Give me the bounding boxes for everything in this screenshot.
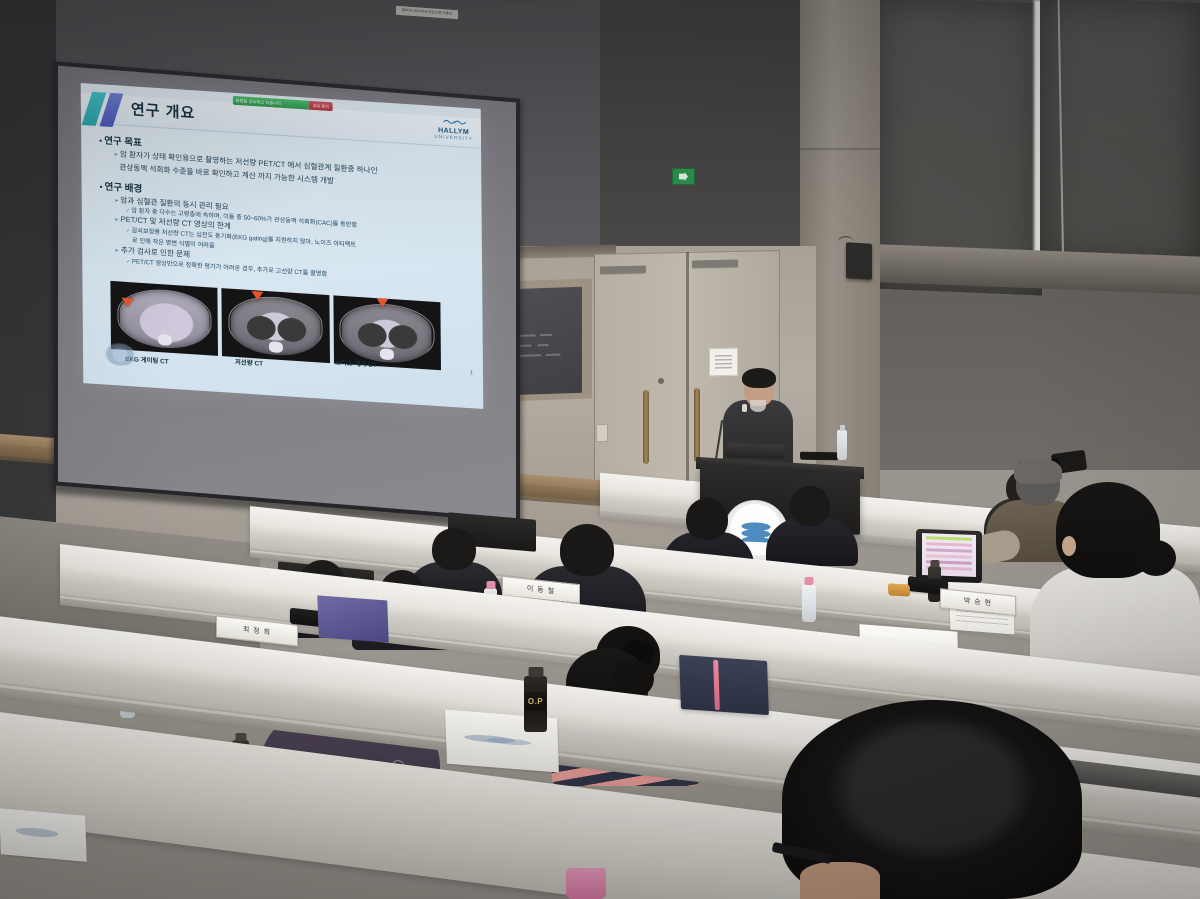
- slide-body: 연구 목표 암 환자가 상태 확인용으로 촬영하는 저선량 PET/CT 에서 …: [95, 132, 474, 289]
- ct-caption: 저선량 CT: [235, 357, 263, 368]
- pink-cup: [566, 868, 606, 899]
- audience-head: [432, 528, 476, 570]
- door-lock-icon[interactable]: [658, 378, 664, 384]
- door-notice-sign: [709, 348, 738, 377]
- laptop-screen[interactable]: [317, 595, 388, 642]
- annotation-arrow-icon: [252, 291, 264, 301]
- notebook[interactable]: [679, 655, 769, 715]
- lecture-hall-photo: 연구 개요 〜〜 HALLYM UNIVERSITY 화면을 공유하고 있습니다…: [0, 0, 1200, 899]
- bottle-cap: [805, 577, 814, 585]
- snack: [888, 583, 911, 596]
- bottle-cap: [486, 581, 495, 589]
- bottle-label: O.P: [525, 692, 546, 710]
- tablet-line: [926, 536, 972, 541]
- exit-arrow-glyph: [679, 172, 688, 181]
- audience-head: [560, 524, 614, 576]
- bottle-cap: [528, 667, 543, 677]
- lapel-microphone-icon: [742, 404, 747, 412]
- bottle-cap: [235, 733, 246, 741]
- door-closer-left: [600, 266, 646, 274]
- presenter-collar: [750, 400, 766, 412]
- door-closer-right: [692, 260, 738, 268]
- ct-spine: [269, 341, 283, 353]
- ct-spine: [380, 349, 394, 361]
- tablet-line: [926, 548, 972, 553]
- door-handle-right[interactable]: [694, 388, 700, 462]
- pillar-seam: [800, 148, 880, 150]
- ct-image-low-dose: [222, 288, 330, 363]
- presenter-hair: [742, 368, 776, 388]
- audience-head: [790, 486, 830, 526]
- foreground-head-neck: [800, 862, 880, 899]
- slide-title: 연구 개요: [131, 98, 196, 123]
- audience-hair-bun: [1136, 540, 1176, 576]
- annotation-arrow-icon: [121, 298, 133, 308]
- podium-laptop[interactable]: [726, 443, 784, 459]
- chalk-writing: [520, 329, 572, 371]
- presentation-remote[interactable]: [800, 452, 838, 461]
- tablet-line: [926, 554, 972, 559]
- water-bottle: [802, 584, 816, 622]
- slide-page-number: 1: [470, 370, 473, 376]
- exit-sign-icon: [672, 168, 695, 185]
- window-blind-right[interactable]: [1040, 0, 1200, 271]
- stop-share-button[interactable]: 공유 중지: [309, 101, 333, 112]
- tablet-line: [926, 542, 972, 547]
- audience-head: [686, 498, 728, 540]
- printed-handout: [0, 808, 87, 862]
- hallym-university-logo: 〜〜 HALLYM UNIVERSITY: [434, 116, 473, 142]
- ct-spine: [158, 334, 172, 346]
- audience-hair-gray: [1014, 458, 1062, 484]
- wall-speaker: [846, 242, 872, 279]
- bottle-cap: [930, 560, 939, 567]
- projected-slide: 연구 개요 〜〜 HALLYM UNIVERSITY 화면을 공유하고 있습니다…: [81, 83, 484, 409]
- door-handle-left[interactable]: [643, 390, 649, 464]
- water-bottle: [837, 430, 847, 460]
- annotation-arrow-icon: [376, 298, 388, 308]
- door-split-line: [686, 252, 689, 502]
- ct-caption: 노이즈 제거 CT: [335, 357, 377, 369]
- wall-light-switch[interactable]: [596, 424, 608, 442]
- left-wall-shadow: [0, 0, 56, 560]
- audience-ear: [1062, 536, 1076, 556]
